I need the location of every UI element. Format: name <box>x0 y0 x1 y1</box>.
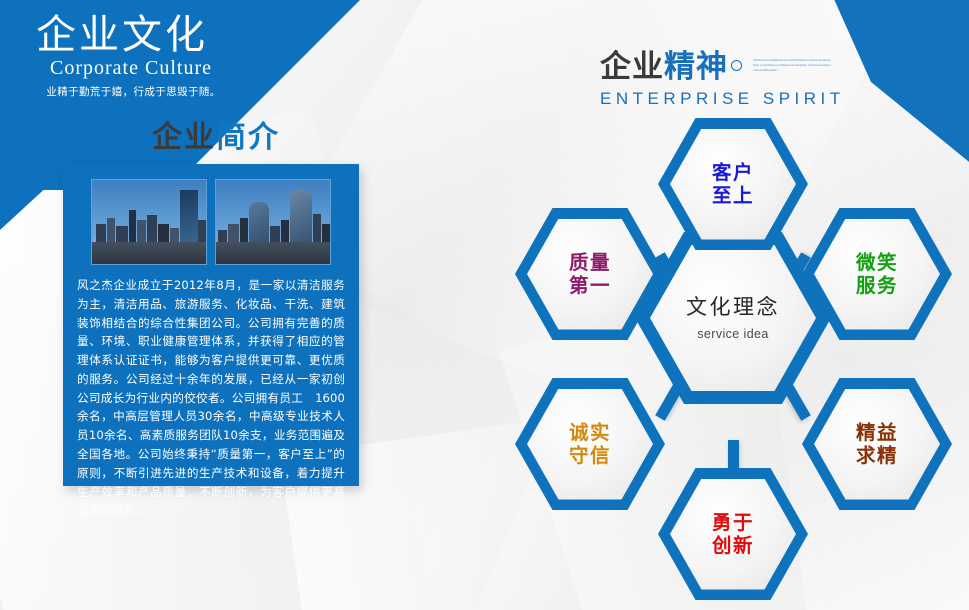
node-line-2: 至上 <box>712 184 754 207</box>
node-line-1: 勇于 <box>712 511 754 534</box>
node-line-1: 微笑 <box>856 251 898 274</box>
spirit-title-suffix: 精神 <box>664 49 728 85</box>
company-intro-panel: 风之杰企业成立于2012年8月，是一家以清洁服务为主，清洁用品、旅游服务、化妆品… <box>63 164 359 486</box>
banner-title-cn: 企业文化 <box>36 14 231 56</box>
company-intro-heading: 企业简介 <box>152 112 280 156</box>
node-line-2: 创新 <box>712 534 754 557</box>
company-intro-body: 风之杰企业成立于2012年8月，是一家以清洁服务为主，清洁用品、旅游服务、化妆品… <box>77 276 345 520</box>
hexagon-node-label: 精益 求精 <box>802 378 952 510</box>
hexagon-node-lower-right[interactable]: 精益 求精 <box>802 378 952 510</box>
spirit-title-en: ENTERPRISE SPIRIT <box>600 89 845 109</box>
center-subtitle: service idea <box>697 327 769 342</box>
center-title: 文化理念 <box>686 295 780 320</box>
banner-title-en: Corporate Culture <box>36 57 226 80</box>
node-line-2: 守信 <box>569 444 611 467</box>
spirit-title-prefix: 企业 <box>600 49 664 85</box>
decorative-circle-icon <box>731 60 742 71</box>
city-skyline-photo-2 <box>215 179 331 265</box>
hexagon-node-label: 质量 第一 <box>515 208 665 340</box>
node-line-1: 质量 <box>569 251 611 274</box>
culture-hexagon-cluster: 文化理念 service idea 客户 至上 质量 第一 <box>495 100 969 610</box>
banner-motto: 业精于勤荒于嬉，行成于思毁于随。 <box>36 84 231 99</box>
node-line-1: 客户 <box>712 161 754 184</box>
node-line-1: 诚实 <box>569 421 611 444</box>
hexagon-node-upper-right[interactable]: 微笑 服务 <box>802 208 952 340</box>
hexagon-node-label: 客户 至上 <box>658 118 808 250</box>
hexagon-node-label: 微笑 服务 <box>802 208 952 340</box>
node-line-1: 精益 <box>856 421 898 444</box>
corporate-culture-banner: 企业文化 Corporate Culture 业精于勤荒于嬉，行成于思毁于随。 <box>36 14 231 99</box>
enterprise-spirit-heading: 企业精神 ENTERPRISE SPIRIT dfikdsazinewfdidk… <box>600 52 845 109</box>
hexagon-node-bottom[interactable]: 勇于 创新 <box>658 468 808 600</box>
intro-heading-prefix: 企业 <box>152 120 216 155</box>
node-line-2: 服务 <box>856 274 898 297</box>
node-line-2: 第一 <box>569 274 611 297</box>
intro-heading-suffix: 简介 <box>216 120 280 155</box>
hexagon-node-label: 诚实 守信 <box>515 378 665 510</box>
photo-strip <box>91 179 331 263</box>
hexagon-node-top[interactable]: 客户 至上 <box>658 118 808 250</box>
poster-canvas: 企业文化 Corporate Culture 业精于勤荒于嬉，行成于思毁于随。 … <box>0 0 969 610</box>
hexagon-node-upper-left[interactable]: 质量 第一 <box>515 208 665 340</box>
hexagon-node-lower-left[interactable]: 诚实 守信 <box>515 378 665 510</box>
node-line-2: 求精 <box>856 444 898 467</box>
spirit-fine-print: dfikdsazinewfdidkiiwoiuchl dfidfiaritfol… <box>753 58 831 80</box>
hexagon-node-label: 勇于 创新 <box>658 468 808 600</box>
city-skyline-photo-1 <box>91 179 207 265</box>
